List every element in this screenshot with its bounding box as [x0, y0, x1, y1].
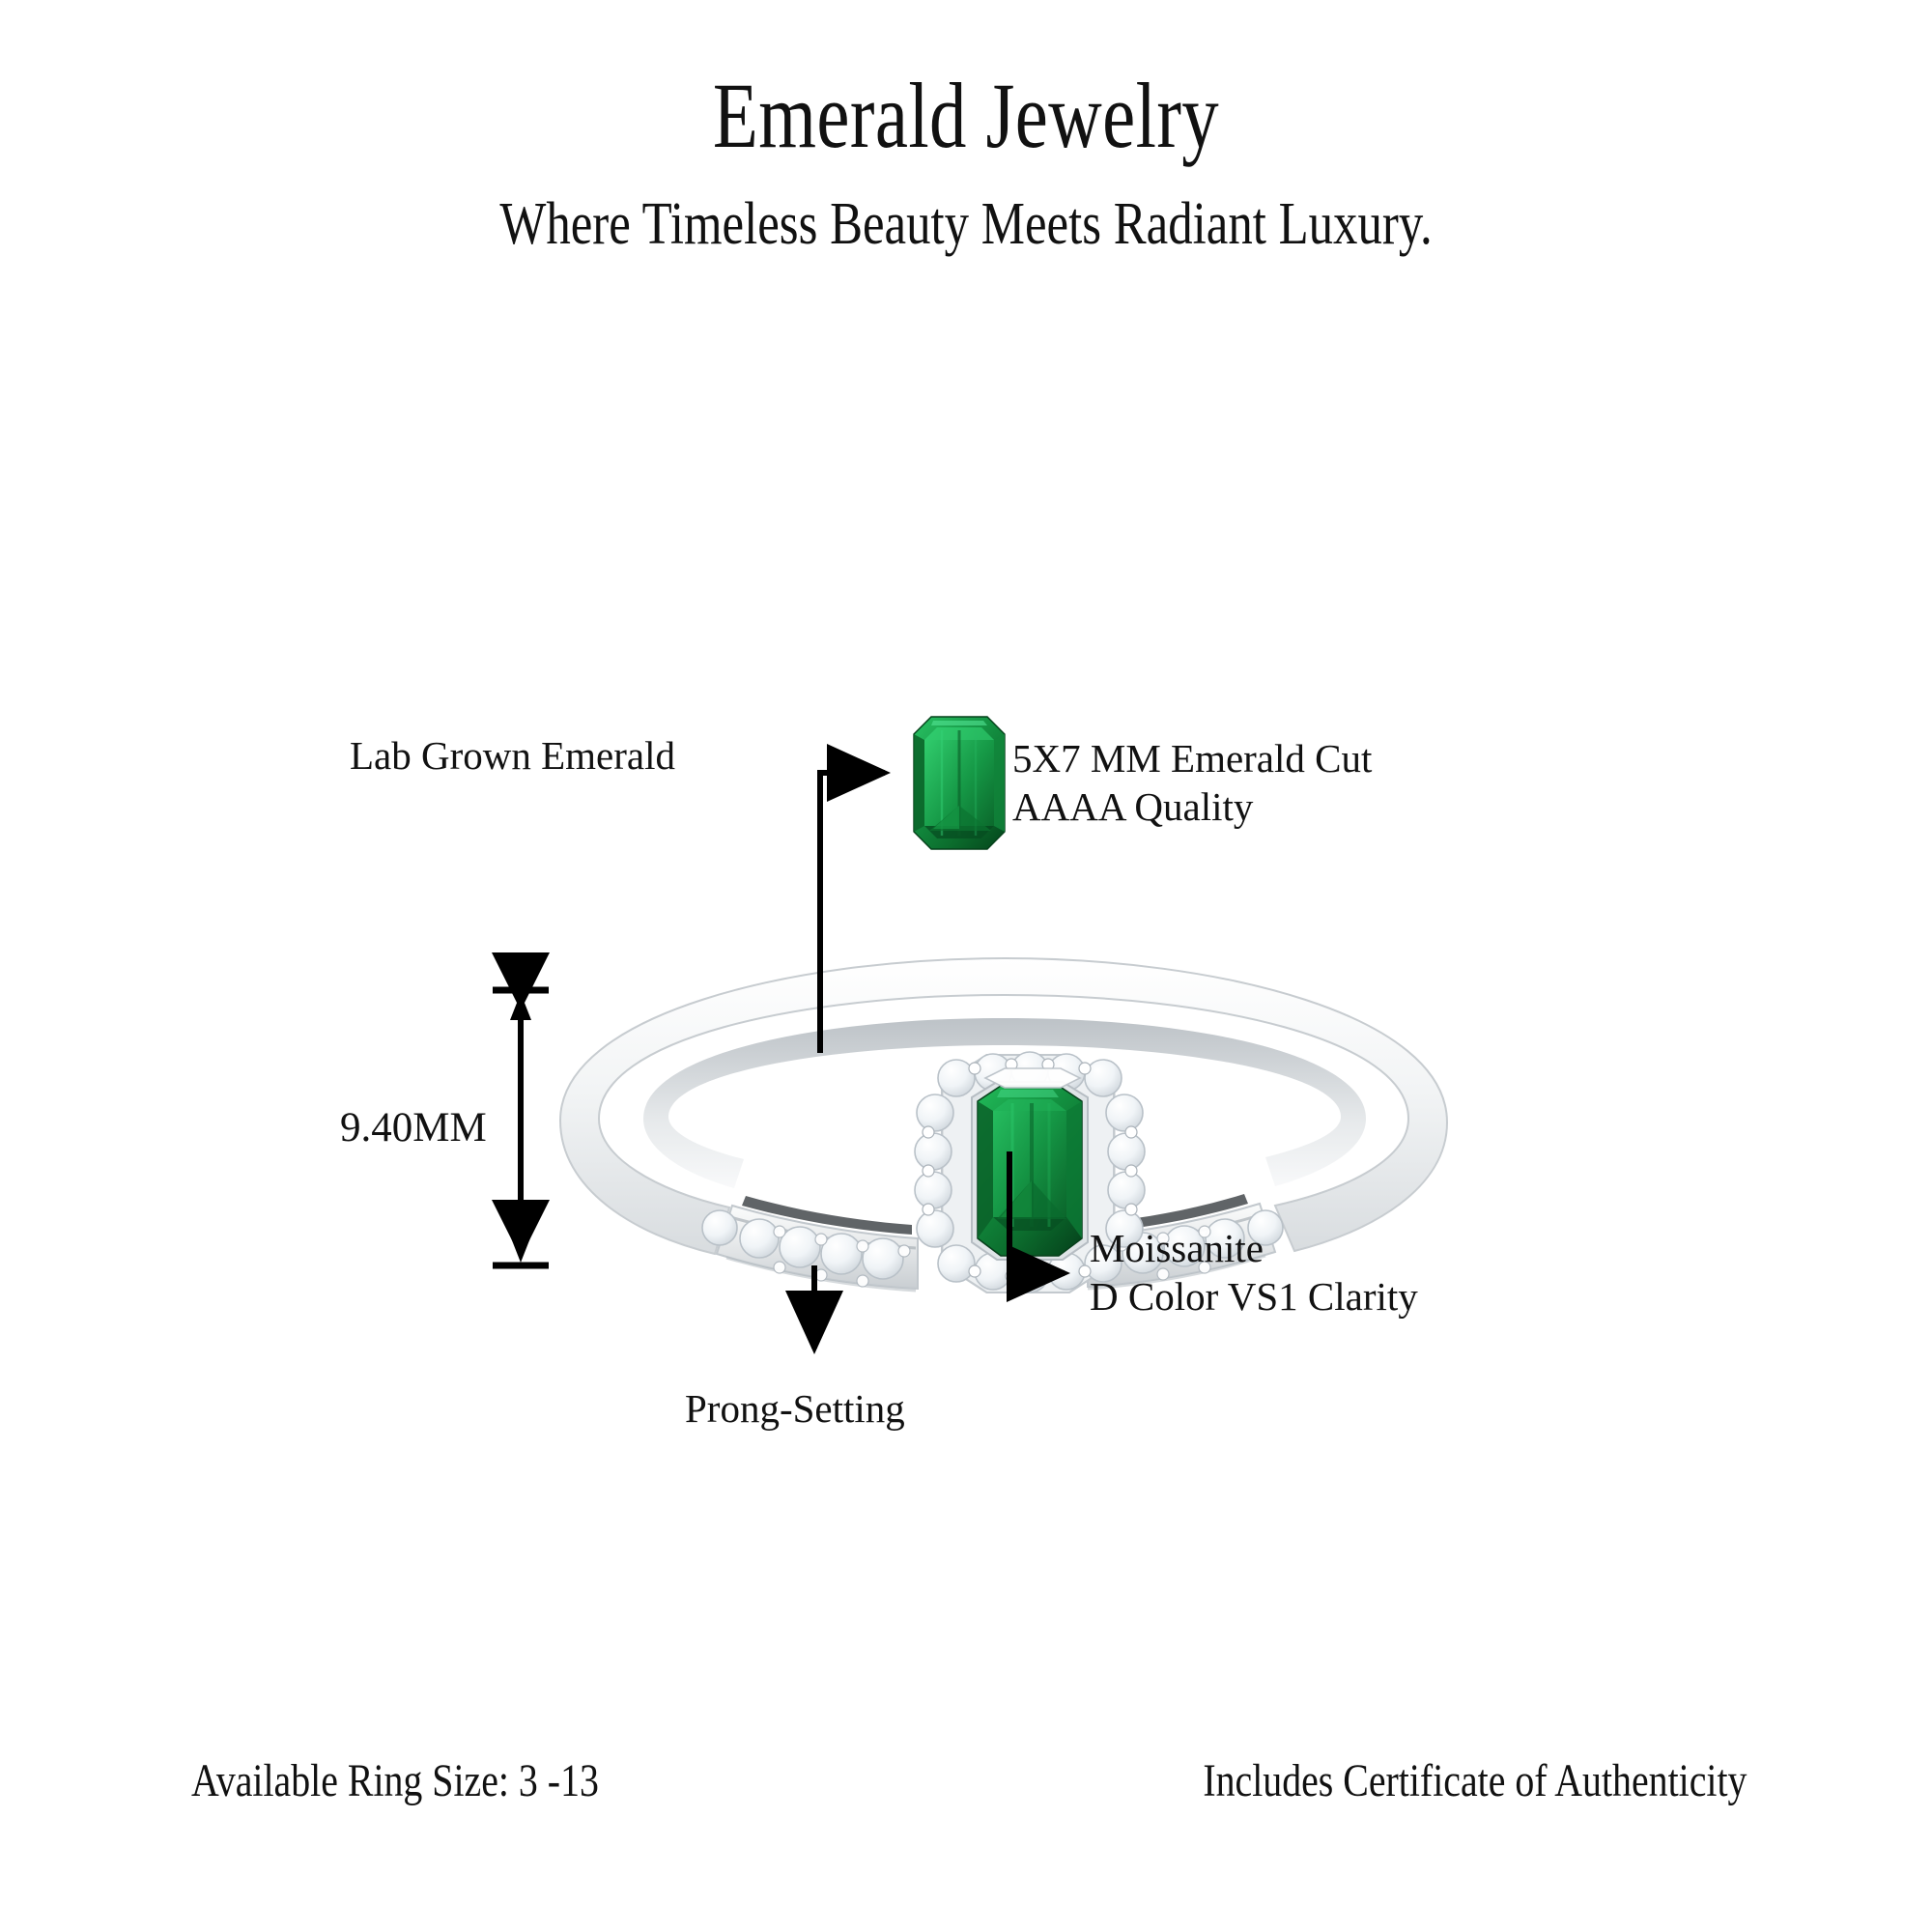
infographic-canvas: Emerald Jewelry Where Timeless Beauty Me…	[0, 0, 1932, 1932]
center-emerald-stone	[978, 1086, 1082, 1256]
gem-spec-line-2: AAAA Quality	[1012, 782, 1372, 831]
emerald-gem-swatch	[910, 713, 1009, 853]
annotation-dimension-height: 9.40MM	[340, 1103, 487, 1153]
gem-spec-line-1: 5X7 MM Emerald Cut	[1012, 734, 1372, 782]
page-title: Emerald Jewelry	[193, 68, 1739, 165]
annotation-gem-spec: 5X7 MM Emerald Cut AAAA Quality	[1012, 734, 1372, 831]
head-top-rim	[985, 1068, 1080, 1088]
moissanite-line-2: D Color VS1 Clarity	[1090, 1272, 1418, 1321]
moissanite-line-1: Moissanite	[1090, 1224, 1418, 1272]
footer-ring-size: Available Ring Size: 3 -13	[191, 1756, 599, 1807]
annotation-lab-grown-emerald: Lab Grown Emerald	[350, 731, 675, 780]
annotation-moissanite: Moissanite D Color VS1 Clarity	[1090, 1224, 1418, 1321]
page-subtitle: Where Timeless Beauty Meets Radiant Luxu…	[174, 191, 1758, 257]
annotation-prong-setting: Prong-Setting	[685, 1384, 905, 1433]
footer-certificate: Includes Certificate of Authenticity	[1203, 1756, 1747, 1807]
